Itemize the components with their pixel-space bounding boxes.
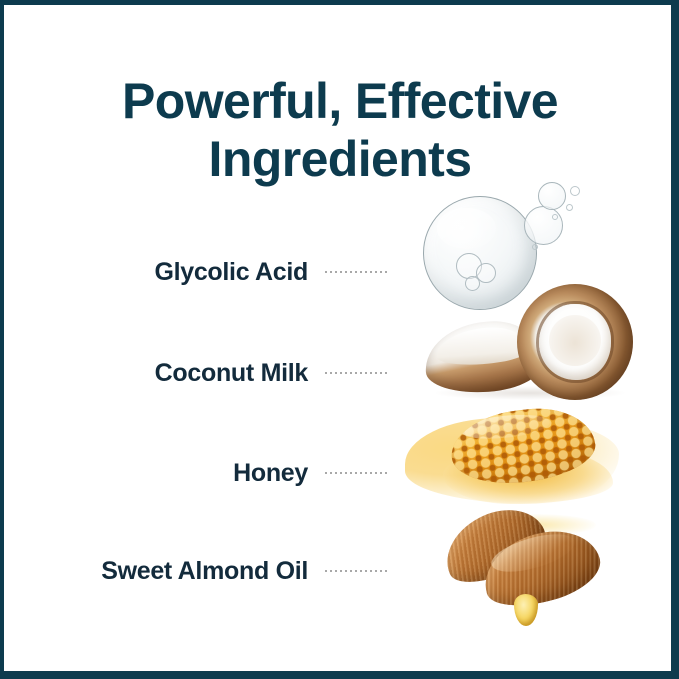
ingredient-list: Glycolic Acid Coconut Milk Honey Sweet A… xyxy=(0,160,420,660)
list-item: Coconut Milk xyxy=(0,356,420,390)
dot-leader xyxy=(325,366,391,380)
gel-micro-bubble-icon xyxy=(566,204,573,211)
dot-leader-dot xyxy=(355,472,357,474)
list-item: Sweet Almond Oil xyxy=(0,554,420,588)
dot-leader-dot xyxy=(375,570,377,572)
dot-leader-dot xyxy=(325,372,327,374)
dot-leader-dot xyxy=(340,570,342,572)
ingredient-label-sweet-almond-oil: Sweet Almond Oil xyxy=(0,557,308,586)
dot-leader-dot xyxy=(375,372,377,374)
dot-leader-dot xyxy=(385,570,387,572)
dot-leader-dot xyxy=(350,271,352,273)
coconut-image xyxy=(425,282,640,400)
gel-micro-bubble-icon xyxy=(570,186,580,196)
dot-leader-dot xyxy=(345,472,347,474)
dot-leader-dot xyxy=(335,271,337,273)
dot-leader-dot xyxy=(345,271,347,273)
dot-leader-dot xyxy=(340,472,342,474)
gel-micro-bubble-icon xyxy=(552,214,558,220)
dot-leader-dot xyxy=(365,570,367,572)
dot-leader-dot xyxy=(380,372,382,374)
coconut-half xyxy=(517,284,633,400)
dot-leader-dot xyxy=(355,570,357,572)
honeycomb-image xyxy=(405,406,625,510)
dot-leader-dot xyxy=(370,570,372,572)
dot-leader-dot xyxy=(330,472,332,474)
gel-micro-bubble-icon xyxy=(532,244,538,250)
frame-border-top xyxy=(0,0,679,5)
dot-leader-dot xyxy=(375,472,377,474)
frame-border-bottom xyxy=(0,671,679,679)
dot-leader-dot xyxy=(335,372,337,374)
dot-leader-dot xyxy=(380,271,382,273)
dot-leader-dot xyxy=(330,271,332,273)
dot-leader-dot xyxy=(360,570,362,572)
dot-leader-dot xyxy=(325,271,327,273)
dot-leader-dot xyxy=(385,472,387,474)
dot-leader-dot xyxy=(340,372,342,374)
dot-leader xyxy=(325,564,391,578)
dot-leader-dot xyxy=(330,372,332,374)
dot-leader-dot xyxy=(385,271,387,273)
dot-leader-dot xyxy=(380,570,382,572)
almonds-image xyxy=(436,512,626,642)
dot-leader-dot xyxy=(365,372,367,374)
dot-leader-dot xyxy=(370,372,372,374)
gel-bubble-icon xyxy=(538,182,566,210)
dot-leader xyxy=(325,265,391,279)
list-item: Honey xyxy=(0,456,420,490)
ingredients-poster: Powerful, Effective Ingredients Glycolic… xyxy=(0,0,679,679)
dot-leader-dot xyxy=(375,271,377,273)
dot-leader-dot xyxy=(325,472,327,474)
oil-drop-icon xyxy=(514,594,538,626)
honeycomb-body xyxy=(448,403,599,490)
ingredient-label-honey: Honey xyxy=(0,459,308,488)
dot-leader-dot xyxy=(365,472,367,474)
dot-leader-dot xyxy=(350,472,352,474)
dot-leader-dot xyxy=(360,472,362,474)
gel-bubble-icon xyxy=(524,206,563,245)
dot-leader-dot xyxy=(355,372,357,374)
dot-leader-dot xyxy=(335,472,337,474)
dot-leader-dot xyxy=(380,472,382,474)
dot-leader-dot xyxy=(345,372,347,374)
dot-leader-dot xyxy=(350,372,352,374)
dot-leader xyxy=(325,466,391,480)
dot-leader-dot xyxy=(370,271,372,273)
dot-leader-dot xyxy=(335,570,337,572)
dot-leader-dot xyxy=(385,372,387,374)
ingredient-label-glycolic-acid: Glycolic Acid xyxy=(0,258,308,287)
dot-leader-dot xyxy=(325,570,327,572)
dot-leader-dot xyxy=(370,472,372,474)
dot-leader-dot xyxy=(360,271,362,273)
dot-leader-dot xyxy=(350,570,352,572)
dot-leader-dot xyxy=(360,372,362,374)
dot-leader-dot xyxy=(365,271,367,273)
ingredient-label-coconut-milk: Coconut Milk xyxy=(0,359,308,388)
list-item: Glycolic Acid xyxy=(0,255,420,289)
dot-leader-dot xyxy=(345,570,347,572)
dot-leader-dot xyxy=(355,271,357,273)
frame-border-right xyxy=(671,0,679,679)
dot-leader-dot xyxy=(330,570,332,572)
dot-leader-dot xyxy=(340,271,342,273)
